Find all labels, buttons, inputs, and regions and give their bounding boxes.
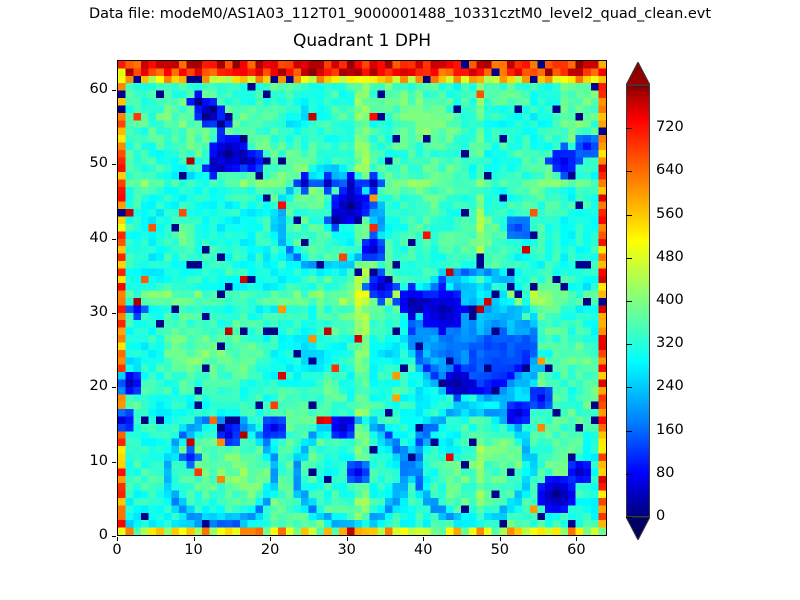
y-tick-mark — [112, 164, 116, 165]
colorbar-tick-mark — [626, 171, 632, 172]
colorbar-tick-label: 80 — [656, 465, 674, 481]
colorbar-tick-mark — [626, 301, 632, 302]
colorbar-tick-mark — [626, 474, 632, 475]
dph-heatmap-canvas[interactable] — [118, 61, 606, 535]
x-tick-label: 60 — [546, 542, 606, 558]
y-tick-mark — [112, 239, 116, 240]
colorbar-tick-mark — [626, 517, 632, 518]
x-tick-mark — [194, 537, 195, 541]
y-tick-label: 30 — [62, 304, 108, 320]
triangle-down-icon — [626, 517, 650, 540]
y-tick-mark — [112, 536, 116, 537]
x-tick-label: 0 — [87, 542, 147, 558]
colorbar-tick-mark — [626, 128, 632, 129]
y-tick-label: 10 — [62, 453, 108, 469]
data-file-suptitle: Data file: modeM0/AS1A03_112T01_90000014… — [0, 6, 800, 22]
x-tick-mark — [347, 537, 348, 541]
y-tick-label: 60 — [62, 81, 108, 97]
y-tick-mark — [112, 387, 116, 388]
colorbar-tick-label: 320 — [656, 335, 684, 351]
y-tick-mark — [112, 313, 116, 314]
x-tick-mark — [117, 537, 118, 541]
colorbar-tick-label: 0 — [656, 508, 665, 524]
colorbar-tick-mark — [626, 258, 632, 259]
y-tick-label: 40 — [62, 230, 108, 246]
page-title: Quadrant 1 DPH — [117, 31, 607, 51]
colorbar-tick-mark — [626, 387, 632, 388]
y-tick-label: 20 — [62, 378, 108, 394]
x-tick-mark — [270, 537, 271, 541]
x-tick-label: 50 — [470, 542, 530, 558]
dph-heatmap-axes[interactable] — [117, 60, 607, 536]
colorbar-tick-mark — [626, 431, 632, 432]
y-tick-label: 50 — [62, 155, 108, 171]
x-tick-mark — [576, 537, 577, 541]
y-tick-mark — [112, 90, 116, 91]
colorbar-tick-label: 640 — [656, 162, 684, 178]
x-tick-label: 10 — [164, 542, 224, 558]
colorbar-tick-mark — [626, 344, 632, 345]
colorbar-tick-label: 480 — [656, 249, 684, 265]
x-tick-mark — [500, 537, 501, 541]
colorbar-tick-mark — [626, 215, 632, 216]
colorbar-tick-label: 240 — [656, 378, 684, 394]
x-tick-mark — [423, 537, 424, 541]
x-tick-label: 30 — [317, 542, 377, 558]
colorbar-tick-label: 160 — [656, 422, 684, 438]
y-tick-mark — [112, 462, 116, 463]
colorbar-tick-label: 560 — [656, 206, 684, 222]
triangle-up-icon — [626, 62, 650, 85]
y-tick-label: 0 — [62, 527, 108, 543]
colorbar-tick-label: 720 — [656, 119, 684, 135]
colorbar-tick-label: 400 — [656, 292, 684, 308]
x-tick-label: 40 — [393, 542, 453, 558]
x-tick-label: 20 — [240, 542, 300, 558]
